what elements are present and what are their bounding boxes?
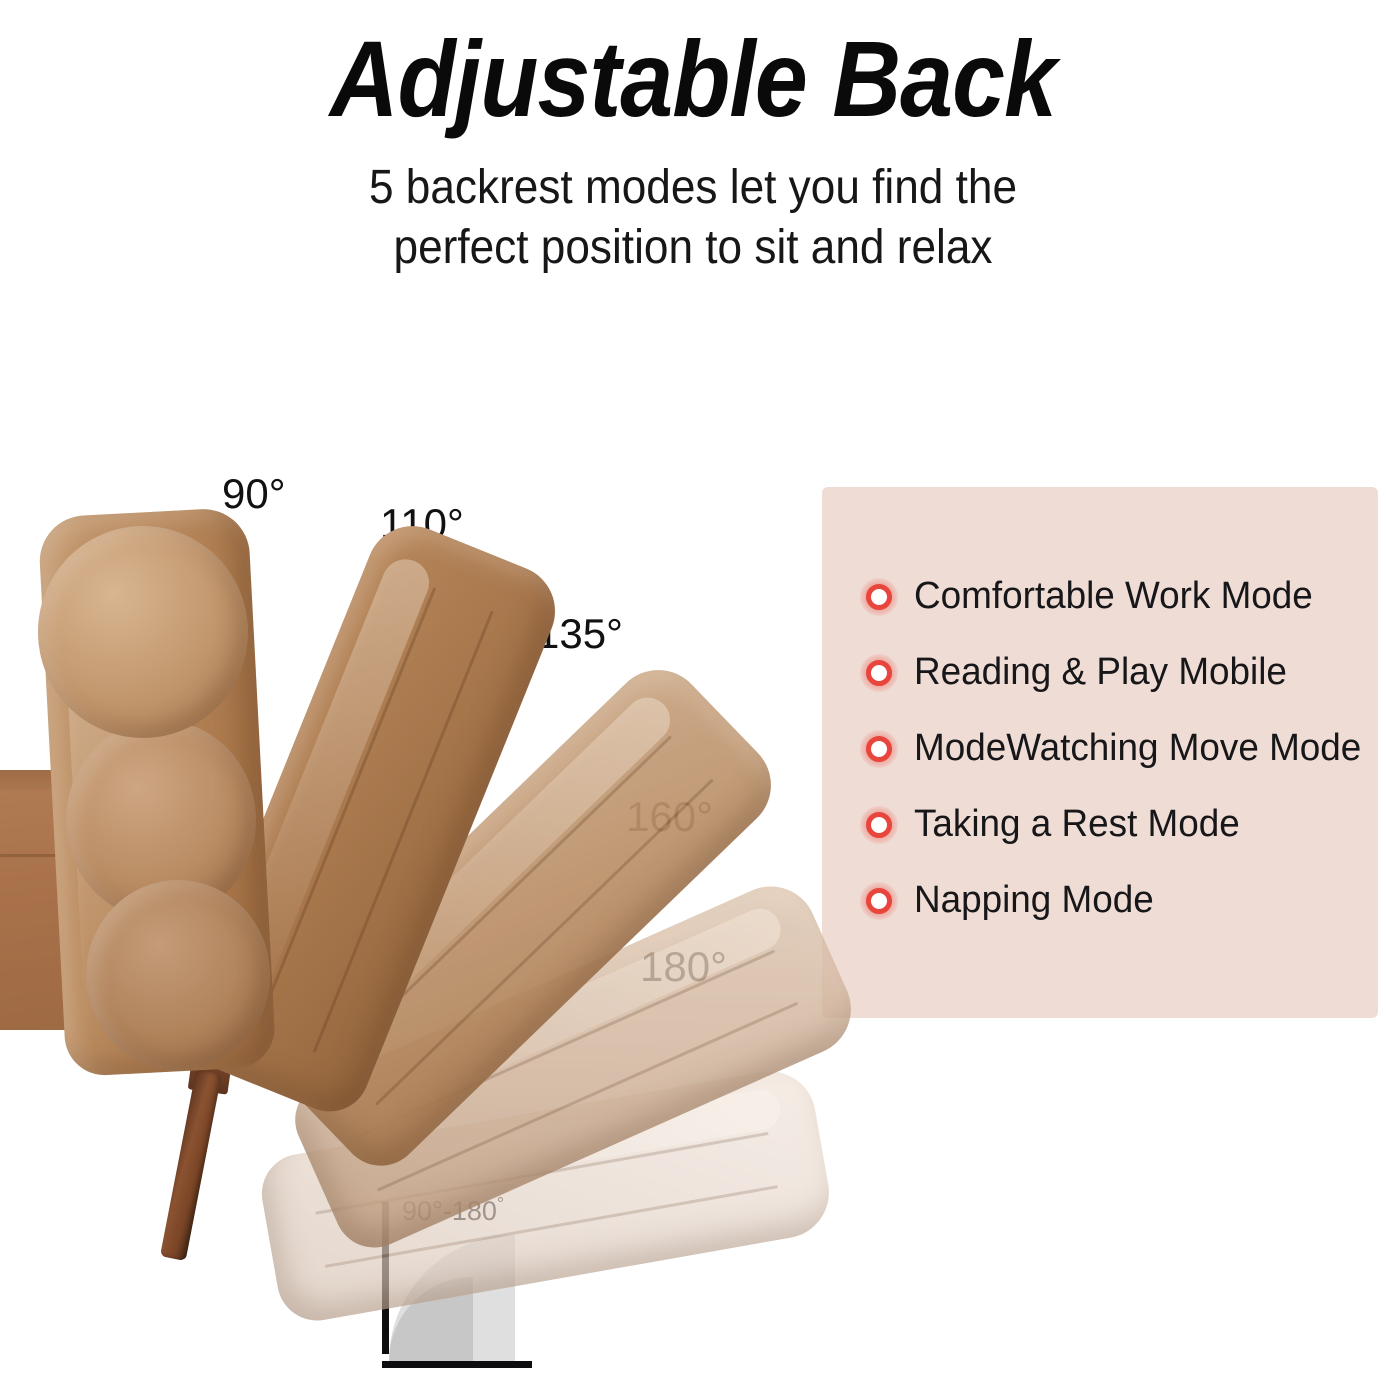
list-item: Taking a Rest Mode: [866, 787, 1360, 863]
feature-label-napping-mode: Napping Mode: [914, 880, 1154, 922]
headrest-bolster-lower: [86, 880, 270, 1070]
bullet-circle-icon: [866, 736, 892, 762]
page-title: Adjustable Back: [83, 22, 1303, 135]
feature-label-taking-a-rest-mode: Taking a Rest Mode: [914, 804, 1240, 846]
headrest-bolster-top: [38, 526, 248, 738]
feature-label-comfortable-work-mode: Comfortable Work Mode: [914, 576, 1313, 618]
feature-label-modewatching-move-mode: ModeWatching Move Mode: [914, 728, 1361, 770]
backrest-position-fan: [0, 470, 800, 1260]
page-subtitle: 5 backrest modes let you find the perfec…: [55, 158, 1330, 277]
modes-feature-panel: Comfortable Work Mode Reading & Play Mob…: [822, 487, 1378, 1018]
page-subtitle-line-2: perfect position to sit and relax: [55, 218, 1330, 278]
page-subtitle-line-1: 5 backrest modes let you find the: [55, 158, 1330, 218]
bullet-circle-icon: [866, 584, 892, 610]
angle-axis-horizontal: [382, 1361, 532, 1368]
modes-feature-list: Comfortable Work Mode Reading & Play Mob…: [866, 559, 1360, 939]
angle-label-90: 90°: [222, 470, 286, 518]
feature-label-reading-play-mobile: Reading & Play Mobile: [914, 652, 1287, 694]
infographic-canvas: Adjustable Back 5 backrest modes let you…: [0, 0, 1386, 1386]
bullet-circle-icon: [866, 888, 892, 914]
list-item: Napping Mode: [866, 863, 1360, 939]
list-item: Reading & Play Mobile: [866, 635, 1360, 711]
list-item: Comfortable Work Mode: [866, 559, 1360, 635]
list-item: ModeWatching Move Mode: [866, 711, 1360, 787]
bullet-circle-icon: [866, 812, 892, 838]
bullet-circle-icon: [866, 660, 892, 686]
chair-product-image: [0, 470, 800, 1260]
